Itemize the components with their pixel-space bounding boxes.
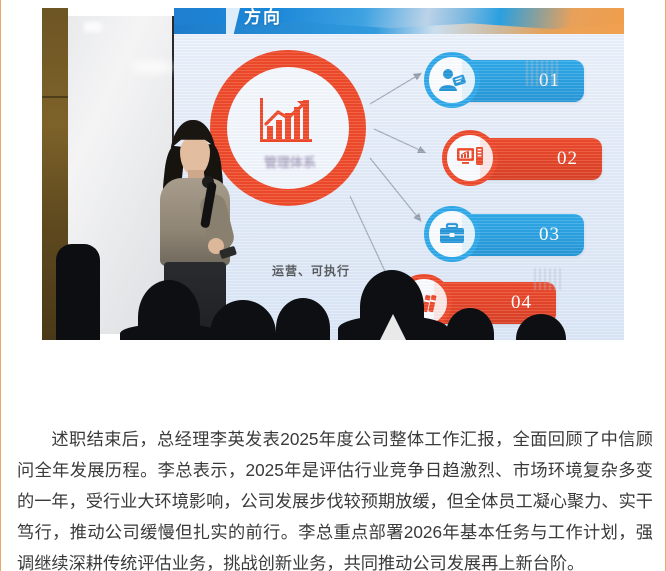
bar-chart-growth-icon <box>260 96 318 142</box>
photo-canvas: 方向 <box>42 8 624 340</box>
slide-header-title: 方向 <box>244 8 282 28</box>
slide-item-01-ring <box>424 52 480 108</box>
slide-item-01-number: 01 <box>462 60 584 102</box>
article-page: 方向 <box>0 0 666 571</box>
article-body: 述职结束后，总经理李英发表2025年度公司整体工作汇报，全面回顾了中信顾问全年发… <box>17 424 653 571</box>
computer-chart-icon <box>447 135 493 181</box>
briefcase-icon <box>429 211 475 257</box>
slide-item-02-ring <box>442 130 498 186</box>
whiteboard-glare-secondary <box>130 60 172 74</box>
person-card-icon <box>429 57 475 103</box>
header-wave-shape <box>174 21 624 34</box>
trend-arrow-icon <box>264 100 312 126</box>
slide-item-03-ring <box>424 206 480 262</box>
presentation-photo: 方向 <box>42 8 624 340</box>
background-text-blob-top <box>526 60 560 86</box>
bottom-caption: 运营、可执行 <box>272 262 350 279</box>
whiteboard-glare <box>84 22 102 32</box>
slide-item-03-number: 03 <box>462 214 584 256</box>
article-paragraph: 述职结束后，总经理李英发表2025年度公司整体工作汇报，全面回顾了中信顾问全年发… <box>17 424 653 571</box>
audience-figure-left <box>56 244 100 340</box>
slide-header-band: 方向 <box>174 8 624 34</box>
slide-item-02-number: 02 <box>480 138 602 180</box>
background-text-blob-bottom <box>534 268 564 290</box>
center-caption: 管理体系 <box>244 152 336 171</box>
